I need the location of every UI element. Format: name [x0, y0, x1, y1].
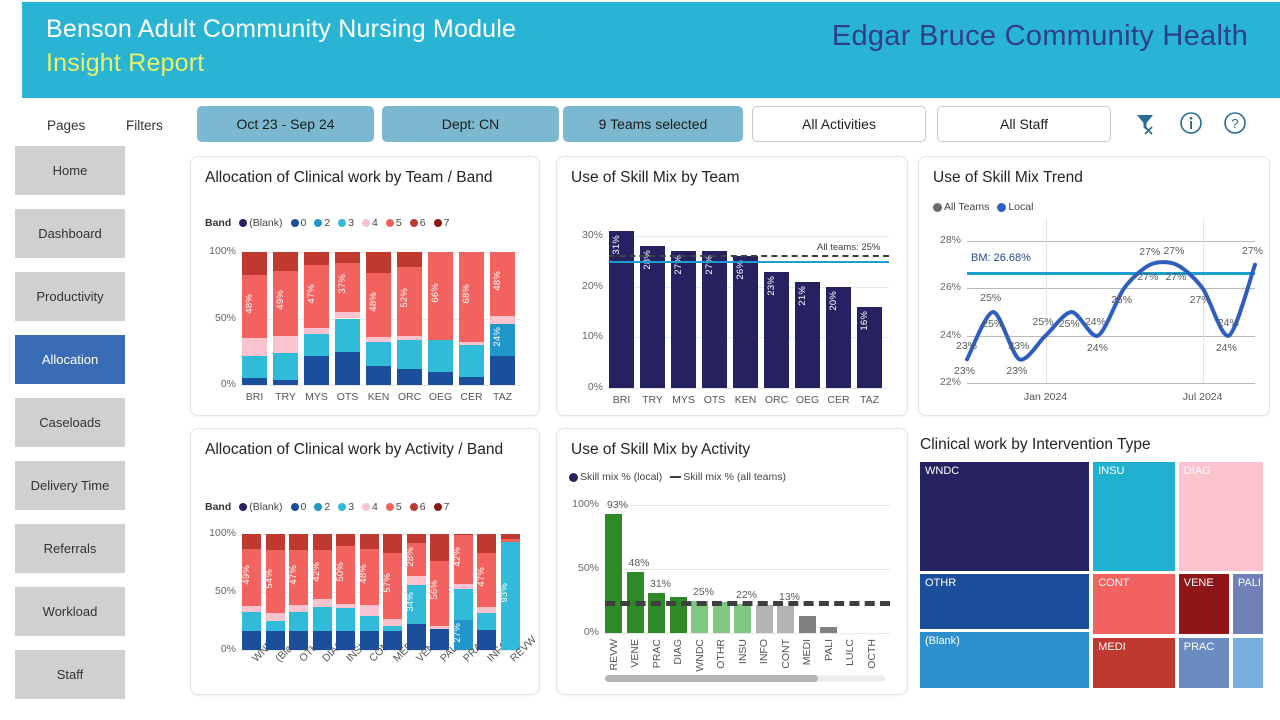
app-subtitle: Insight Report	[46, 46, 516, 80]
bar-value-label: 21%	[797, 286, 808, 306]
treemap-node[interactable]	[1233, 638, 1263, 688]
x-axis-tick: BRI	[238, 391, 271, 403]
data-point-label-secondary: 23%	[956, 340, 977, 352]
treemap-node-label: OTHR	[925, 577, 956, 589]
sidebar-item-home[interactable]: Home	[15, 146, 125, 195]
stacked-bar-plot: 100%50%0%48%BRI49%TRY47%MYS37%OTS48%KEN5…	[191, 157, 539, 415]
bar-segment-band-6[interactable]	[430, 534, 449, 561]
bar-segment-band-3[interactable]	[242, 612, 261, 632]
bar-segment-band-0[interactable]	[428, 372, 453, 385]
bar-column[interactable]	[820, 627, 837, 633]
card-skillmix-trend: Use of Skill Mix Trend All TeamsLocal 28…	[918, 156, 1270, 416]
x-axis-tick: ORC	[760, 394, 793, 406]
bar-value-label: 48%	[244, 294, 255, 314]
x-axis-tick: CER	[455, 391, 488, 403]
treemap-node-prac[interactable]: PRAC	[1179, 638, 1229, 688]
gridline	[605, 633, 890, 634]
treemap-node-label: WNDC	[925, 465, 959, 477]
reference-line-all-teams	[609, 255, 889, 257]
sidebar-item-label: Allocation	[42, 352, 98, 367]
bar-segment-band-3[interactable]	[397, 340, 422, 369]
data-point-label: 27%	[1163, 245, 1184, 257]
bar-segment-band-6[interactable]	[366, 252, 391, 273]
bar-segment-band-6[interactable]	[336, 534, 355, 546]
x-axis-tick: OEG	[424, 391, 457, 403]
bar-value-label: 25%	[693, 586, 714, 598]
bar-value-label: 27%	[452, 623, 463, 643]
treemap-node-label: DIAG	[1184, 465, 1211, 477]
stacked-bar[interactable]	[366, 252, 391, 385]
y-axis-tick: 100%	[202, 245, 236, 257]
x-axis-tick: TRY	[636, 394, 669, 406]
y-axis-tick: 0%	[561, 626, 599, 638]
treemap-node-pali[interactable]: PALI	[1233, 574, 1263, 634]
stacked-bar[interactable]	[304, 252, 329, 385]
stacked-bar[interactable]	[360, 534, 379, 650]
sidebar-item-delivery-time[interactable]: Delivery Time	[15, 461, 125, 510]
bar-segment-band-0[interactable]	[335, 352, 360, 385]
x-axis-tick: CER	[822, 394, 855, 406]
bar-value-label: 47%	[306, 284, 317, 304]
app-header: Benson Adult Community Nursing Module In…	[22, 2, 1280, 98]
card-allocation-activity-band: Allocation of Clinical work by Activity …	[190, 428, 540, 695]
bar-value-label: 48%	[358, 564, 369, 584]
all-teams-reference-line	[605, 601, 890, 606]
bar-segment-band-6[interactable]	[477, 534, 496, 553]
bar-column[interactable]	[713, 602, 730, 633]
bar-segment-band-6[interactable]	[360, 534, 379, 549]
horizontal-scrollbar-thumb[interactable]	[605, 675, 818, 682]
filter-button-label: All Staff	[1000, 116, 1048, 132]
bar-value-label: 28%	[405, 547, 416, 567]
stacked-bar[interactable]	[477, 534, 496, 650]
bar-segment-band-6[interactable]	[273, 252, 298, 271]
bar-segment-band-4[interactable]	[335, 312, 360, 319]
sidebar-item-staff[interactable]: Staff	[15, 650, 125, 699]
bar-value-label: 48%	[492, 271, 503, 291]
treemap-node-label: PRAC	[1184, 641, 1215, 653]
stacked-bar[interactable]	[242, 252, 267, 385]
data-point-label: 27%	[1137, 271, 1158, 283]
bar-segment-band-0[interactable]	[242, 378, 267, 385]
data-point-label: 23%	[1006, 365, 1027, 377]
bar-value-label: 52%	[399, 288, 410, 308]
bar-segment-band-3[interactable]	[289, 612, 308, 632]
sidebar-item-label: Home	[53, 163, 88, 178]
data-point-label: 25%	[980, 292, 1001, 304]
treemap-node-label: CONT	[1098, 577, 1129, 589]
treemap-node-label: VENE	[1184, 577, 1214, 589]
treemap-node-insu[interactable]: INSU	[1093, 462, 1175, 571]
bar-column[interactable]	[799, 616, 816, 633]
y-axis-tick: 20%	[567, 280, 603, 292]
bar-value-label: 47%	[288, 565, 299, 585]
bar-value-label: 47%	[476, 567, 487, 587]
bar-value-label: 22%	[736, 589, 757, 601]
y-axis-tick: 100%	[561, 498, 599, 510]
sidebar-item-label: Dashboard	[38, 226, 102, 241]
stacked-bar[interactable]	[242, 534, 261, 650]
bar-value-label: 93%	[499, 583, 510, 603]
stacked-bar[interactable]	[313, 534, 332, 650]
treemap-node-vene[interactable]: VENE	[1179, 574, 1229, 634]
filter-button-label: Dept: CN	[442, 116, 500, 132]
x-axis-tick: OTS	[331, 391, 364, 403]
treemap-plot: WNDCOTHR(Blank)INSUDIAGCONTMEDIVENEPALIP…	[920, 462, 1265, 690]
bar-segment-band-3[interactable]	[304, 334, 329, 355]
column-chart-plot: 100%50%0%93%REVW48%VENE31%PRACDIAG25%WND…	[557, 429, 907, 694]
filter-button-label: All Activities	[802, 116, 876, 132]
stacked-bar[interactable]	[336, 534, 355, 650]
bar-value-label: 54%	[264, 569, 275, 589]
y-axis-tick: 50%	[561, 562, 599, 574]
bar-segment-band-4[interactable]	[266, 613, 285, 621]
treemap-node-label: INSU	[1098, 465, 1124, 477]
bar-value-label: 28%	[642, 250, 653, 270]
bar-value-label: 27%	[704, 255, 715, 275]
bar-column[interactable]	[734, 604, 751, 633]
reference-line-benchmark	[609, 261, 889, 263]
data-point-label-secondary: 24%	[1087, 342, 1108, 354]
data-point-label: 24%	[1085, 316, 1106, 328]
bar-segment-band-0[interactable]	[273, 380, 298, 385]
bar-segment-band-3[interactable]	[335, 319, 360, 352]
card-allocation-team-band: Allocation of Clinical work by Team / Ba…	[190, 156, 540, 416]
treemap-node-wndc[interactable]: WNDC	[920, 462, 1089, 571]
stacked-bar[interactable]	[428, 252, 453, 385]
bar-value-label: 34%	[405, 592, 416, 612]
filter-button-2[interactable]: Dept: CN	[382, 106, 559, 142]
filter-button-label: Oct 23 - Sep 24	[236, 116, 334, 132]
bar-segment-band-4[interactable]	[304, 328, 329, 335]
bar-segment-band-3[interactable]	[366, 342, 391, 366]
x-axis-tick: INFO	[758, 639, 770, 664]
x-axis-tick: TAZ	[853, 394, 886, 406]
sidebar-item-referrals[interactable]: Referrals	[15, 524, 125, 573]
bar-segment-band-3[interactable]	[360, 616, 379, 631]
gridline	[242, 385, 520, 386]
filters-label: Filters	[126, 118, 163, 133]
x-axis-tick: OCTH	[866, 639, 878, 669]
sidebar-item-label: Caseloads	[39, 415, 100, 430]
bar-segment-band-0[interactable]	[490, 356, 515, 385]
card-intervention-treemap: Clinical work by Intervention Type WNDCO…	[918, 432, 1268, 694]
bar-segment-band-3[interactable]	[336, 608, 355, 631]
x-axis-tick: CONT	[780, 639, 792, 669]
bar-value-label: 24%	[492, 327, 503, 347]
treemap-node-label: (Blank)	[925, 635, 960, 647]
app-title: Benson Adult Community Nursing Module	[46, 12, 516, 46]
bar-segment-band-4[interactable]	[289, 605, 308, 612]
y-axis-tick: 30%	[567, 229, 603, 241]
data-point-label: 24%	[1216, 342, 1237, 354]
x-axis-tick: ORC	[393, 391, 426, 403]
bar-segment-band-3[interactable]	[459, 345, 484, 377]
treemap-node-othr[interactable]: OTHR	[920, 574, 1089, 629]
x-axis-tick: PALI	[823, 639, 835, 661]
bar-value-label: 37%	[337, 274, 348, 294]
stacked-bar[interactable]	[335, 252, 360, 385]
data-point-label: 25%	[1111, 294, 1132, 306]
sidebar-item-workload[interactable]: Workload	[15, 587, 125, 636]
x-axis-tick: DIAG	[672, 639, 684, 665]
data-point-label-secondary: 24%	[1218, 317, 1239, 329]
bar-segment-band-3[interactable]	[454, 589, 473, 620]
x-axis-tick: VENE	[629, 639, 641, 668]
x-axis-tick: MEDI	[801, 639, 813, 665]
data-point-label: 27%	[1190, 294, 1211, 306]
bar-segment-band-6[interactable]	[313, 534, 332, 550]
bar-segment-band-6[interactable]	[242, 534, 261, 549]
x-axis-tick: MYS	[300, 391, 333, 403]
bar-segment-band-4[interactable]	[490, 316, 515, 324]
stacked-bar[interactable]	[273, 252, 298, 385]
bar-value-label: 42%	[452, 547, 463, 567]
sidebar-item-dashboard[interactable]: Dashboard	[15, 209, 125, 258]
bar-value-label: 93%	[607, 499, 628, 511]
bar-segment-band-6[interactable]	[266, 534, 285, 550]
gridline	[605, 569, 890, 570]
bar-value-label: 57%	[382, 573, 393, 593]
data-point-label: 25%	[1033, 316, 1054, 328]
sidebar-item-label: Delivery Time	[31, 478, 110, 493]
bar-value-label: 48%	[368, 292, 379, 312]
sidebar-item-allocation[interactable]: Allocation	[15, 335, 125, 384]
bar-value-label: 31%	[650, 578, 671, 590]
card-skillmix-activity: Use of Skill Mix by Activity Skill mix %…	[556, 428, 908, 695]
stacked-bar-plot: 100%50%0%49%WNDC54%(Blank)47%OTHR42%DIAG…	[191, 429, 539, 694]
clear-filter-icon[interactable]	[1133, 110, 1159, 136]
bar-value-label: 42%	[311, 562, 322, 582]
gridline	[609, 236, 889, 237]
column-chart-plot: 30%20%10%0%31%BRI28%TRY27%MYS27%OTS26%KE…	[557, 157, 907, 415]
organisation-name: Edgar Bruce Community Health	[832, 20, 1248, 53]
bar-segment-band-3[interactable]	[477, 613, 496, 630]
filter-button-3[interactable]: 9 Teams selected	[563, 106, 743, 142]
bar-value-label: 27%	[673, 255, 684, 275]
bar-segment-band-4[interactable]	[383, 619, 402, 626]
treemap-node-label: PALI	[1238, 577, 1261, 589]
stacked-bar[interactable]	[397, 252, 422, 385]
bar-value-label: 68%	[461, 284, 472, 304]
data-point-label-secondary: 27%	[1165, 271, 1186, 283]
bar-segment-band-3[interactable]	[242, 356, 267, 379]
x-axis-tick: BRI	[605, 394, 638, 406]
horizontal-scrollbar-track[interactable]	[605, 675, 885, 682]
data-point-label-secondary: 23%	[1008, 340, 1029, 352]
bar-value-label: 48%	[629, 557, 650, 569]
bar-segment-band-3[interactable]	[273, 353, 298, 380]
bar-column[interactable]	[648, 593, 665, 633]
gridline	[605, 505, 890, 506]
x-axis-tick: KEN	[729, 394, 762, 406]
filter-button-5[interactable]: All Staff	[937, 106, 1111, 142]
bar-segment-band-6[interactable]	[383, 534, 402, 553]
gridline	[609, 388, 889, 389]
card-title: Clinical work by Intervention Type	[920, 436, 1151, 454]
stacked-bar[interactable]	[459, 252, 484, 385]
y-axis-tick: 50%	[202, 312, 236, 324]
bar-segment-band-4[interactable]	[273, 336, 298, 353]
data-point-label: 23%	[954, 365, 975, 377]
y-axis-tick: 100%	[202, 527, 236, 539]
reference-line-label: All teams: 25%	[817, 242, 880, 253]
bar-segment-band-3[interactable]	[428, 340, 453, 372]
bar-segment-band-6[interactable]	[407, 534, 426, 543]
y-axis-tick: 0%	[567, 381, 603, 393]
x-axis-tick: OTS	[698, 394, 731, 406]
bar-value-label: 49%	[275, 290, 286, 310]
bar-segment-band-0[interactable]	[304, 356, 329, 385]
filter-button-1[interactable]: Oct 23 - Sep 24	[197, 106, 374, 142]
bar-value-label: 16%	[859, 311, 870, 331]
sidebar-item-productivity[interactable]: Productivity	[15, 272, 125, 321]
x-axis-tick: TAZ	[486, 391, 519, 403]
y-axis-tick: 0%	[202, 378, 236, 390]
bar-value-label: 56%	[429, 580, 440, 600]
bar-segment-band-6[interactable]	[289, 534, 308, 550]
sidebar-item-label: Productivity	[36, 289, 103, 304]
sidebar-item-label: Referrals	[44, 541, 97, 556]
sidebar-item-label: Workload	[43, 604, 98, 619]
data-point-label-secondary: 27%	[1139, 246, 1160, 258]
info-icon[interactable]	[1178, 110, 1204, 136]
bar-segment-band-4[interactable]	[242, 338, 267, 355]
treemap-node-diag[interactable]: DIAG	[1179, 462, 1263, 571]
bar-segment-band-6[interactable]	[242, 252, 267, 275]
card-skillmix-team: Use of Skill Mix by Team 30%20%10%0%31%B…	[556, 156, 908, 416]
bar-segment-band-4[interactable]	[407, 576, 426, 585]
x-axis-tick: MYS	[667, 394, 700, 406]
bar-column[interactable]	[605, 514, 622, 633]
bar-segment-band-6[interactable]	[304, 252, 329, 265]
y-axis-tick: 0%	[202, 643, 236, 655]
bar-value-label: 31%	[611, 235, 622, 255]
bar-value-label: 20%	[828, 291, 839, 311]
treemap-node-blank[interactable]: (Blank)	[920, 632, 1089, 688]
bar-segment-band-0[interactable]	[366, 366, 391, 385]
x-axis-tick: REVW	[608, 639, 620, 671]
bar-value-label: 50%	[335, 562, 346, 582]
bar-column[interactable]	[777, 606, 794, 633]
y-axis-tick: 50%	[202, 585, 236, 597]
y-axis-tick: 10%	[567, 330, 603, 342]
bar-segment-band-3[interactable]	[266, 621, 285, 631]
bar-segment-band-3[interactable]	[313, 607, 332, 631]
svg-text:?: ?	[1231, 116, 1238, 131]
x-axis-tick: OTHR	[715, 639, 727, 669]
bar-segment-band-0[interactable]	[397, 369, 422, 385]
data-point-label: 25%	[1059, 318, 1080, 330]
treemap-node-label: MEDI	[1098, 641, 1126, 653]
dashboard-page: Benson Adult Community Nursing Module In…	[0, 0, 1280, 720]
bar-value-label: 49%	[241, 565, 252, 585]
data-point-label-secondary: 25%	[982, 318, 1003, 330]
bar-segment-band-6[interactable]	[397, 252, 422, 267]
header-left: Benson Adult Community Nursing Module In…	[46, 12, 516, 80]
x-axis-tick: PRAC	[651, 639, 663, 668]
x-axis-tick: KEN	[362, 391, 395, 403]
bar-segment-band-6[interactable]	[335, 252, 360, 263]
x-axis-tick: OEG	[791, 394, 824, 406]
pages-label: Pages	[47, 118, 85, 133]
filter-button-label: 9 Teams selected	[599, 116, 708, 132]
sidebar-item-caseloads[interactable]: Caseloads	[15, 398, 125, 447]
line-chart-plot: 28%26%24%22%Jan 2024Jul 2024BM: 26.68%23…	[919, 157, 1269, 415]
help-icon[interactable]: ?	[1222, 110, 1248, 136]
treemap-node-cont[interactable]: CONT	[1093, 574, 1175, 634]
x-axis-tick: INSU	[737, 639, 749, 664]
bar-value-label: 66%	[430, 283, 441, 303]
data-point-label: 27%	[1242, 245, 1263, 257]
sidebar-item-label: Staff	[57, 667, 84, 682]
filter-button-4[interactable]: All Activities	[752, 106, 926, 142]
stacked-bar[interactable]	[266, 534, 285, 650]
bar-segment-band-4[interactable]	[313, 599, 332, 607]
x-axis-tick: WNDC	[694, 639, 706, 672]
bar-value-label: 23%	[766, 276, 777, 296]
x-axis-tick: LULC	[844, 639, 856, 666]
treemap-node-medi[interactable]: MEDI	[1093, 638, 1175, 688]
bar-segment-band-4[interactable]	[360, 605, 379, 617]
bar-column[interactable]	[756, 605, 773, 633]
x-axis-tick: TRY	[269, 391, 302, 403]
stacked-bar[interactable]	[289, 534, 308, 650]
bar-segment-band-0[interactable]	[459, 377, 484, 385]
